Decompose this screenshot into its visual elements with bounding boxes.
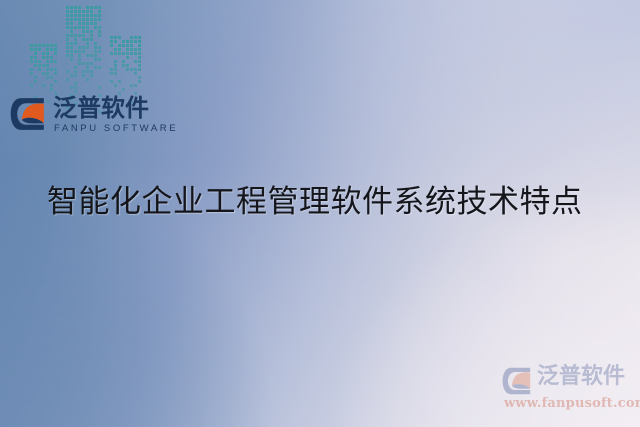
tower-left (30, 44, 58, 94)
pixel-city-graphic (30, 2, 150, 94)
brand-logo: 泛普软件 FANPU SOFTWARE (8, 94, 158, 142)
banner-headline: 智能化企业工程管理软件系统技术特点 (47, 181, 607, 223)
watermark-url: www.fanpusoft.com (504, 396, 640, 411)
fanpu-swoosh-icon (10, 96, 46, 132)
tower-right (110, 36, 143, 94)
brand-name-cn: 泛普软件 (53, 94, 149, 122)
watermark-name-cn: 泛普软件 (537, 364, 625, 390)
tower-center (66, 6, 102, 94)
promo-banner: 泛普软件 FANPU SOFTWARE 智能化企业工程管理软件系统技术特点 泛普… (0, 0, 640, 427)
site-watermark: 泛普软件 www.fanpusoft.com (500, 364, 636, 418)
brand-name-en: FANPU SOFTWARE (54, 123, 178, 134)
fanpu-watermark-icon (502, 366, 532, 396)
